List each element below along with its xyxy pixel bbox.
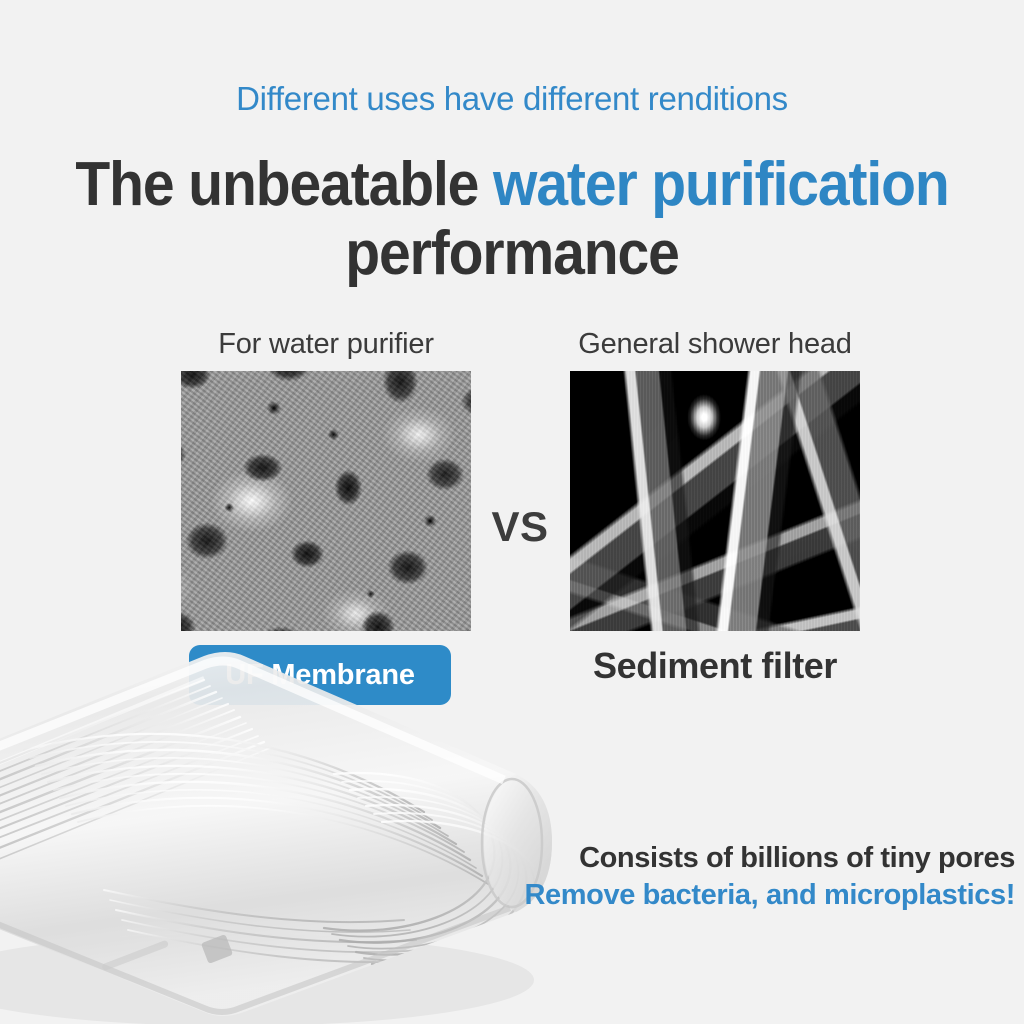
headline-part1: The unbeatable bbox=[75, 150, 493, 219]
vs-separator: VS bbox=[471, 503, 569, 551]
uf-membrane-filter-cartridge bbox=[0, 560, 604, 1024]
sem-micrograph-fiber-strands bbox=[570, 371, 860, 631]
headline-accent: water purification bbox=[493, 150, 949, 219]
caption-line-1: Consists of billions of tiny pores bbox=[470, 840, 1015, 877]
sediment-filter-label: Sediment filter bbox=[570, 645, 860, 687]
infographic-root: Different uses have different renditions… bbox=[0, 0, 1024, 1024]
column-label-left: For water purifier bbox=[181, 328, 471, 361]
column-label-right: General shower head bbox=[570, 328, 860, 361]
subtitle: Different uses have different renditions bbox=[0, 80, 1024, 118]
caption-line-2: Remove bacteria, and microplastics! bbox=[470, 877, 1015, 914]
headline-part2: performance bbox=[41, 219, 983, 288]
bottom-caption: Consists of billions of tiny pores Remov… bbox=[470, 840, 1015, 914]
fiber-texture bbox=[570, 371, 860, 631]
page-title: The unbeatable water purification perfor… bbox=[41, 150, 983, 289]
